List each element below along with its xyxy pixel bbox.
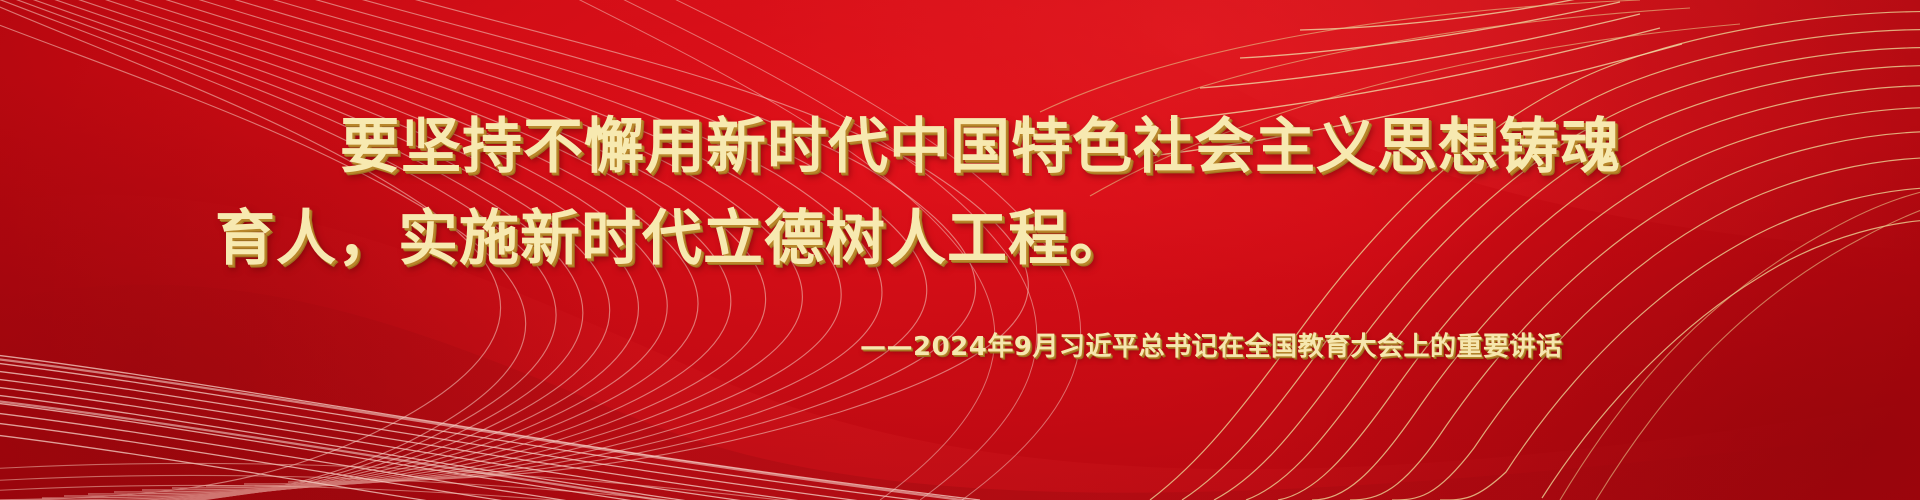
slogan-text-block: 要坚持不懈用新时代中国特色社会主义思想铸魂 育人，实施新时代立德树人工程。 ——… (0, 0, 1920, 500)
slogan-line-1: 要坚持不懈用新时代中国特色社会主义思想铸魂 (0, 104, 1920, 190)
slogan-attribution: ——2024年9月习近平总书记在全国教育大会上的重要讲话 (0, 326, 1920, 363)
slogan-line-2: 育人，实施新时代立德树人工程。 (0, 196, 1920, 282)
slogan-banner: 要坚持不懈用新时代中国特色社会主义思想铸魂 育人，实施新时代立德树人工程。 ——… (0, 0, 1920, 500)
